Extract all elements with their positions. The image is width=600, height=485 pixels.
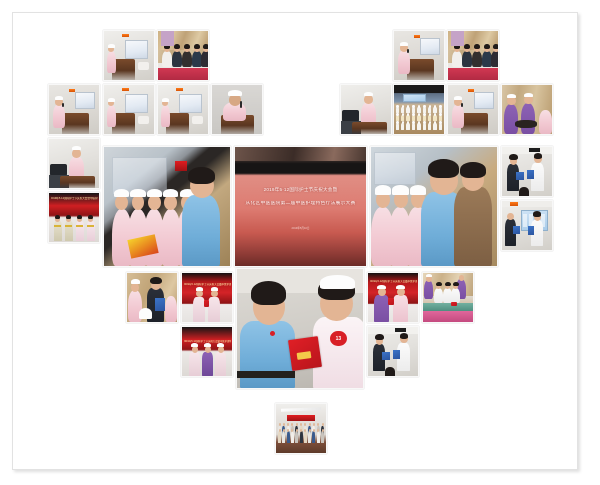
collage-photo-p23[interactable]: 13: [236, 268, 364, 389]
collage-photo-p07[interactable]: [157, 84, 209, 135]
collage-photo-p01[interactable]: [103, 30, 155, 81]
collage-photo-p06[interactable]: [103, 84, 155, 135]
collage-photo-p22[interactable]: 2019年5·12国际护士节庆祝大会暨中医护理特色疗法展示大赛: [181, 326, 233, 377]
collage-photo-p10[interactable]: [393, 84, 445, 135]
collage-photo-p21[interactable]: 2019年5·12国际护士节庆祝大会暨中医护理特色疗法展示大赛: [181, 272, 233, 323]
collage-photo-p08[interactable]: [211, 84, 263, 135]
collage-photo-p05[interactable]: [48, 84, 100, 135]
collage-photo-p24[interactable]: 2019年5·12国际护士节庆祝大会暨中医护理特色疗法展示大赛: [367, 272, 419, 323]
collage-photo-p02[interactable]: [157, 30, 209, 81]
collage-photo-p13[interactable]: [48, 138, 100, 189]
collage-photo-p14[interactable]: 2019年5·12国际护士节庆祝大会暨中医护理特色疗法展示大赛: [48, 192, 100, 243]
collage-photo-p11[interactable]: [447, 84, 499, 135]
collage-photo-p27[interactable]: [275, 403, 327, 454]
collage-photo-p26[interactable]: [367, 326, 419, 377]
collage-photo-p09[interactable]: [340, 84, 392, 135]
collage-photo-p03[interactable]: [393, 30, 445, 81]
collage-photo-p15[interactable]: [103, 146, 231, 267]
collage-photo-p19[interactable]: [501, 200, 553, 251]
collage-photo-p16[interactable]: 2019年5·12国际护士节庆祝大会暨从化区中医医院第二届中医护理特色疗法展示大…: [234, 146, 367, 267]
collage-photo-p18[interactable]: [501, 146, 553, 197]
collage-photo-p25[interactable]: [422, 272, 474, 323]
badge-number: 13: [330, 331, 346, 346]
collage-photo-p04[interactable]: [447, 30, 499, 81]
collage-photo-p20[interactable]: [126, 272, 178, 323]
collage-photo-p12[interactable]: [501, 84, 553, 135]
collage-photo-p17[interactable]: [370, 146, 498, 267]
heart-photo-collage: 2019年5·12国际护士节庆祝大会暨中医护理特色疗法展示大赛2019年5·12…: [0, 0, 600, 485]
